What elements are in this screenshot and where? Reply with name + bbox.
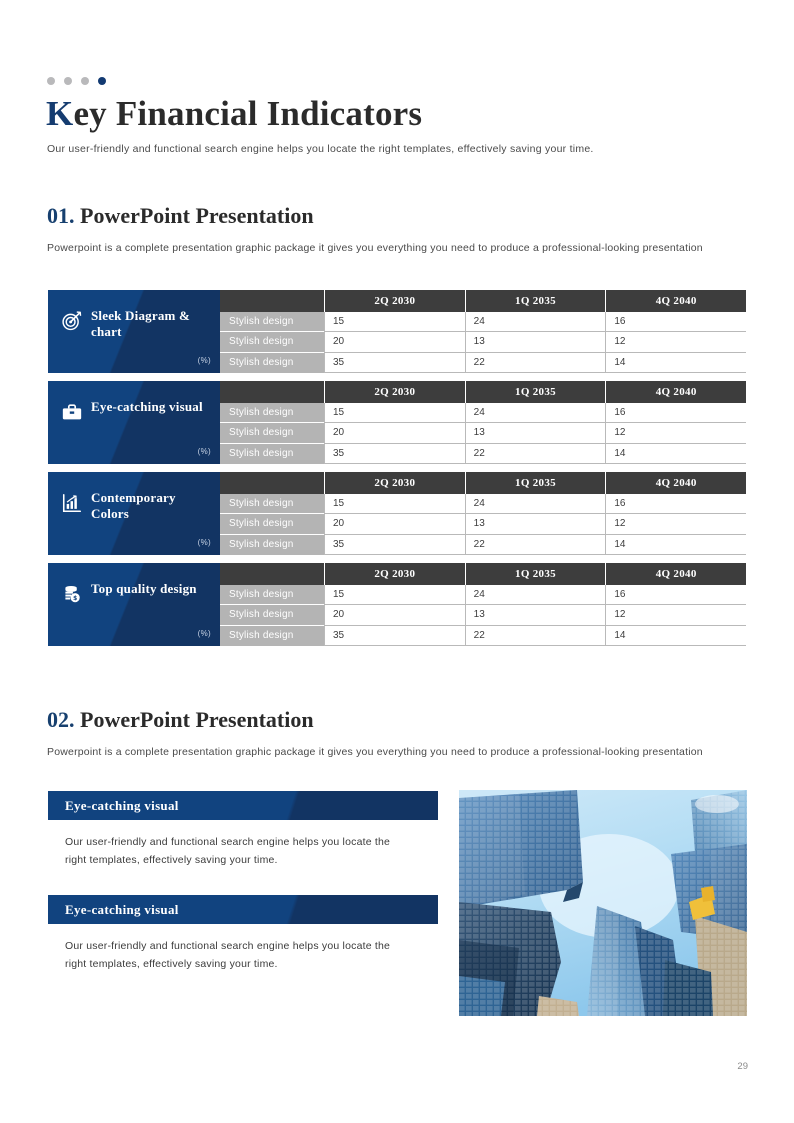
table-block: $ Top quality design (%) 2Q 2030 1Q 2035… [48, 563, 746, 646]
table-header-cell: 4Q 2040 [605, 472, 746, 494]
table-cell: 35 [324, 626, 465, 646]
table-row: Stylish design 20 13 12 [220, 514, 746, 534]
table-panel: $ Top quality design (%) [48, 563, 220, 646]
feature-card-list: Eye-catching visual Our user-friendly an… [48, 791, 438, 999]
table-header-spacer [220, 472, 324, 494]
table-header-cell: 1Q 2035 [465, 563, 606, 585]
table-cell: 15 [324, 494, 465, 514]
section-02-title: PowerPoint Presentation [80, 707, 314, 732]
table-header-spacer [220, 563, 324, 585]
page-title: Key Financial Indicators [46, 94, 422, 134]
feature-card-text: Our user-friendly and functional search … [48, 833, 410, 869]
metrics-table-group: Sleek Diagram & chart (%) 2Q 2030 1Q 203… [48, 290, 746, 654]
table-panel-unit: (%) [198, 356, 211, 365]
table-header-cell: 4Q 2040 [605, 381, 746, 403]
table-cell: 14 [605, 535, 746, 555]
table-panel-unit: (%) [198, 629, 211, 638]
table-header-cell: 2Q 2030 [324, 290, 465, 312]
table-panel-title: Sleek Diagram & chart [91, 308, 212, 340]
table-header-cell: 2Q 2030 [324, 472, 465, 494]
table-cell: 24 [465, 312, 606, 332]
table-cell: 13 [465, 423, 606, 443]
table-cell: 14 [605, 626, 746, 646]
progress-dot-2 [64, 77, 72, 85]
feature-card: Eye-catching visual Our user-friendly an… [48, 895, 438, 973]
section-01-number: 01. [47, 203, 75, 228]
table-block: Eye-catching visual (%) 2Q 2030 1Q 2035 … [48, 381, 746, 464]
table-block: Sleek Diagram & chart (%) 2Q 2030 1Q 203… [48, 290, 746, 373]
coins-icon: $ [61, 583, 83, 605]
table-row: Stylish design 15 24 16 [220, 494, 746, 514]
table-row: Stylish design 20 13 12 [220, 423, 746, 443]
table-panel-unit: (%) [198, 538, 211, 547]
table-header-row: 2Q 2030 1Q 2035 4Q 2040 [220, 472, 746, 494]
table-cell: 20 [324, 514, 465, 534]
table-row: Stylish design 15 24 16 [220, 312, 746, 332]
table-row: Stylish design 20 13 12 [220, 332, 746, 352]
table-row-label: Stylish design [220, 312, 324, 332]
section-01-title: PowerPoint Presentation [80, 203, 314, 228]
table-panel-title: Top quality design [91, 581, 197, 597]
table-header-cell: 1Q 2035 [465, 381, 606, 403]
section-01-heading: 01. PowerPoint Presentation [47, 203, 314, 229]
table-cell: 13 [465, 332, 606, 352]
table-row: Stylish design 35 22 14 [220, 535, 746, 555]
table-row-label: Stylish design [220, 514, 324, 534]
page-number: 29 [737, 1061, 748, 1072]
briefcase-icon [61, 401, 83, 423]
table-cell: 35 [324, 444, 465, 464]
table-panel: Eye-catching visual (%) [48, 381, 220, 464]
table-cell: 22 [465, 626, 606, 646]
skyscrapers-upward-view-photo [459, 790, 747, 1016]
table-header-spacer [220, 381, 324, 403]
table-cell: 16 [605, 494, 746, 514]
table-row-label: Stylish design [220, 423, 324, 443]
table-cell: 12 [605, 423, 746, 443]
table-cell: 12 [605, 332, 746, 352]
table-cell: 13 [465, 514, 606, 534]
slide-progress-dots [47, 77, 106, 85]
table-panel: Sleek Diagram & chart (%) [48, 290, 220, 373]
table-cell: 24 [465, 585, 606, 605]
table-cell: 14 [605, 353, 746, 373]
table-row: Stylish design 15 24 16 [220, 403, 746, 423]
page-subtitle: Our user-friendly and functional search … [47, 143, 594, 155]
table-cell: 24 [465, 403, 606, 423]
feature-card-title: Eye-catching visual [65, 902, 179, 918]
table-header-row: 2Q 2030 1Q 2035 4Q 2040 [220, 290, 746, 312]
feature-card-title: Eye-catching visual [65, 798, 179, 814]
table-cell: 16 [605, 312, 746, 332]
table-cell: 20 [324, 605, 465, 625]
table-header-spacer [220, 290, 324, 312]
table-cell: 15 [324, 312, 465, 332]
progress-dot-4-active [98, 77, 106, 85]
table-data: 2Q 2030 1Q 2035 4Q 2040 Stylish design 1… [220, 381, 746, 464]
table-header-row: 2Q 2030 1Q 2035 4Q 2040 [220, 563, 746, 585]
table-row: Stylish design 20 13 12 [220, 605, 746, 625]
table-data: 2Q 2030 1Q 2035 4Q 2040 Stylish design 1… [220, 563, 746, 646]
table-cell: 13 [465, 605, 606, 625]
table-cell: 22 [465, 444, 606, 464]
table-panel-unit: (%) [198, 447, 211, 456]
table-cell: 22 [465, 353, 606, 373]
progress-dot-3 [81, 77, 89, 85]
section-02-number: 02. [47, 707, 75, 732]
page-title-initial: K [46, 94, 73, 133]
table-data: 2Q 2030 1Q 2035 4Q 2040 Stylish design 1… [220, 472, 746, 555]
table-cell: 12 [605, 514, 746, 534]
section-01-description: Powerpoint is a complete presentation gr… [47, 240, 737, 257]
page-title-rest: ey Financial Indicators [73, 94, 422, 133]
table-header-cell: 4Q 2040 [605, 563, 746, 585]
table-cell: 22 [465, 535, 606, 555]
progress-dot-1 [47, 77, 55, 85]
table-row-label: Stylish design [220, 353, 324, 373]
table-panel-title: Contemporary Colors [91, 490, 212, 522]
table-cell: 24 [465, 494, 606, 514]
section-02-description: Powerpoint is a complete presentation gr… [47, 744, 737, 761]
target-icon [61, 310, 83, 332]
table-cell: 16 [605, 403, 746, 423]
table-cell: 15 [324, 585, 465, 605]
table-cell: 20 [324, 332, 465, 352]
table-data: 2Q 2030 1Q 2035 4Q 2040 Stylish design 1… [220, 290, 746, 373]
table-header-cell: 4Q 2040 [605, 290, 746, 312]
table-cell: 35 [324, 353, 465, 373]
table-header-row: 2Q 2030 1Q 2035 4Q 2040 [220, 381, 746, 403]
table-cell: 35 [324, 535, 465, 555]
table-cell: 15 [324, 403, 465, 423]
table-row: Stylish design 15 24 16 [220, 585, 746, 605]
table-panel: Contemporary Colors (%) [48, 472, 220, 555]
table-header-cell: 1Q 2035 [465, 290, 606, 312]
table-row-label: Stylish design [220, 605, 324, 625]
table-row: Stylish design 35 22 14 [220, 626, 746, 646]
table-row: Stylish design 35 22 14 [220, 353, 746, 373]
svg-text:$: $ [73, 596, 77, 602]
table-row: Stylish design 35 22 14 [220, 444, 746, 464]
feature-card-header: Eye-catching visual [48, 895, 438, 924]
table-row-label: Stylish design [220, 626, 324, 646]
table-row-label: Stylish design [220, 444, 324, 464]
table-row-label: Stylish design [220, 332, 324, 352]
table-block: Contemporary Colors (%) 2Q 2030 1Q 2035 … [48, 472, 746, 555]
table-row-label: Stylish design [220, 403, 324, 423]
table-row-label: Stylish design [220, 494, 324, 514]
table-header-cell: 2Q 2030 [324, 381, 465, 403]
feature-card-text: Our user-friendly and functional search … [48, 937, 410, 973]
table-header-cell: 1Q 2035 [465, 472, 606, 494]
feature-card: Eye-catching visual Our user-friendly an… [48, 791, 438, 869]
table-cell: 12 [605, 605, 746, 625]
feature-card-header: Eye-catching visual [48, 791, 438, 820]
table-cell: 16 [605, 585, 746, 605]
table-cell: 20 [324, 423, 465, 443]
bar-chart-icon [61, 492, 83, 514]
section-02-heading: 02. PowerPoint Presentation [47, 707, 314, 733]
table-cell: 14 [605, 444, 746, 464]
table-row-label: Stylish design [220, 585, 324, 605]
table-row-label: Stylish design [220, 535, 324, 555]
table-header-cell: 2Q 2030 [324, 563, 465, 585]
table-panel-title: Eye-catching visual [91, 399, 203, 415]
